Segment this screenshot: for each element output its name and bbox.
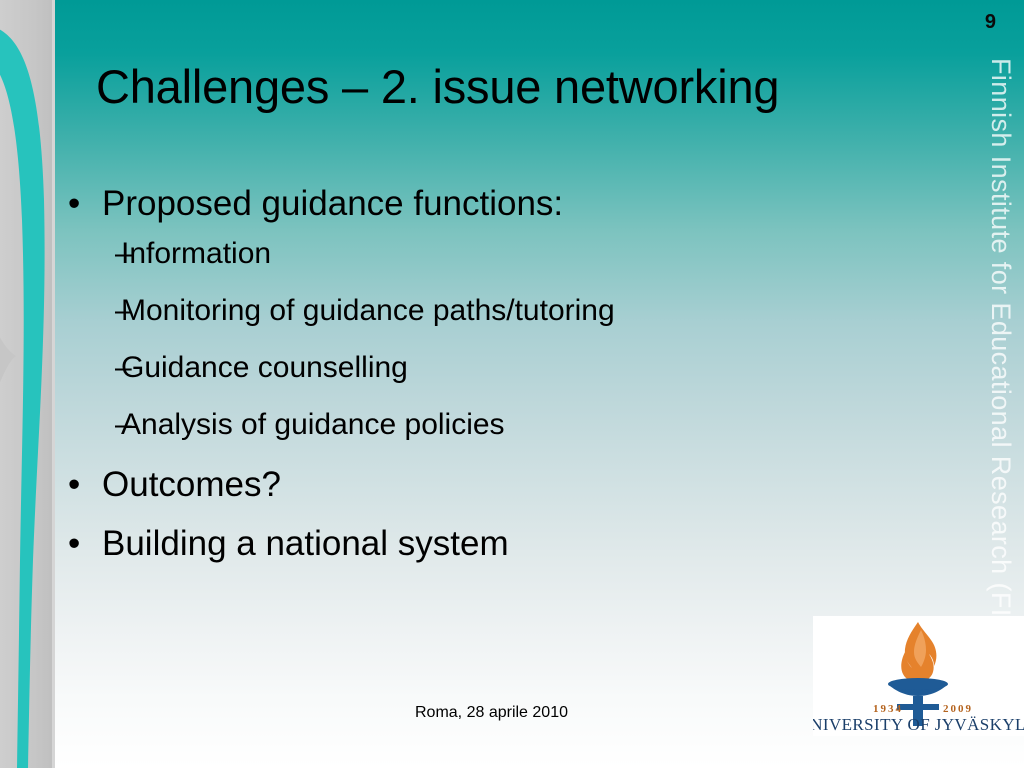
left-band-edge-highlight: [52, 0, 55, 768]
bullet-item-level1: • Proposed guidance functions:: [62, 186, 892, 221]
bullet-text: Proposed guidance functions:: [102, 184, 563, 223]
bullet-item-level2: – Monitoring of guidance paths/tutoring: [62, 296, 892, 326]
bullet-marker-dot: •: [68, 467, 80, 502]
vertical-organisation-label: Finnish Institute for Educational Resear…: [982, 58, 1022, 648]
bullet-item-level2: – Information: [62, 239, 892, 269]
teal-swoosh-decoration: [0, 0, 58, 768]
page-number: 9: [985, 12, 996, 32]
bullet-marker-dot: •: [68, 186, 80, 221]
bullet-text: Outcomes?: [102, 465, 281, 504]
footer-date-location: Roma, 28 aprile 2010: [415, 704, 568, 722]
left-decorative-band: [0, 0, 55, 768]
logo-year-right: 2009: [943, 703, 973, 715]
bullet-item-level1: • Outcomes?: [62, 467, 892, 502]
bullet-marker-dash: –: [115, 353, 132, 383]
bullet-item-level2: – Guidance counselling: [62, 353, 892, 383]
bullet-marker-dot: •: [68, 526, 80, 561]
slide-title: Challenges – 2. issue networking: [96, 62, 956, 113]
bullet-marker-dash: –: [115, 296, 132, 326]
bullet-text: Information: [121, 237, 271, 270]
university-of-jyvaskyla-logo-graphic: 1934 2009 UNIVERSITY OF JYVÄSKYLÄ: [813, 616, 1024, 736]
sub-bullet-group: – Information – Monitoring of guidance p…: [62, 239, 892, 440]
bullet-text: Analysis of guidance policies: [121, 408, 505, 441]
university-logo: 1934 2009 UNIVERSITY OF JYVÄSKYLÄ: [813, 616, 1024, 736]
logo-wordmark: UNIVERSITY OF JYVÄSKYLÄ: [813, 715, 1024, 734]
bullet-item-level1: • Building a national system: [62, 526, 892, 561]
slide-canvas: 9 Challenges – 2. issue networking • Pro…: [0, 0, 1024, 768]
bullet-text: Building a national system: [102, 524, 509, 563]
vertical-organisation-text: Finnish Institute for Educational Resear…: [985, 58, 1016, 98]
bullet-marker-dash: –: [115, 239, 132, 269]
torch-bowl: [888, 678, 948, 696]
logo-year-left: 1934: [873, 703, 903, 715]
bullet-text: Guidance counselling: [121, 351, 408, 384]
torch-crossbar: [897, 704, 939, 710]
torch-flame-icon: [901, 622, 936, 682]
bullet-item-level2: – Analysis of guidance policies: [62, 410, 892, 440]
bullet-text: Monitoring of guidance paths/tutoring: [121, 294, 615, 327]
slide-body-content: • Proposed guidance functions: – Informa…: [62, 186, 892, 585]
bullet-marker-dash: –: [115, 410, 132, 440]
